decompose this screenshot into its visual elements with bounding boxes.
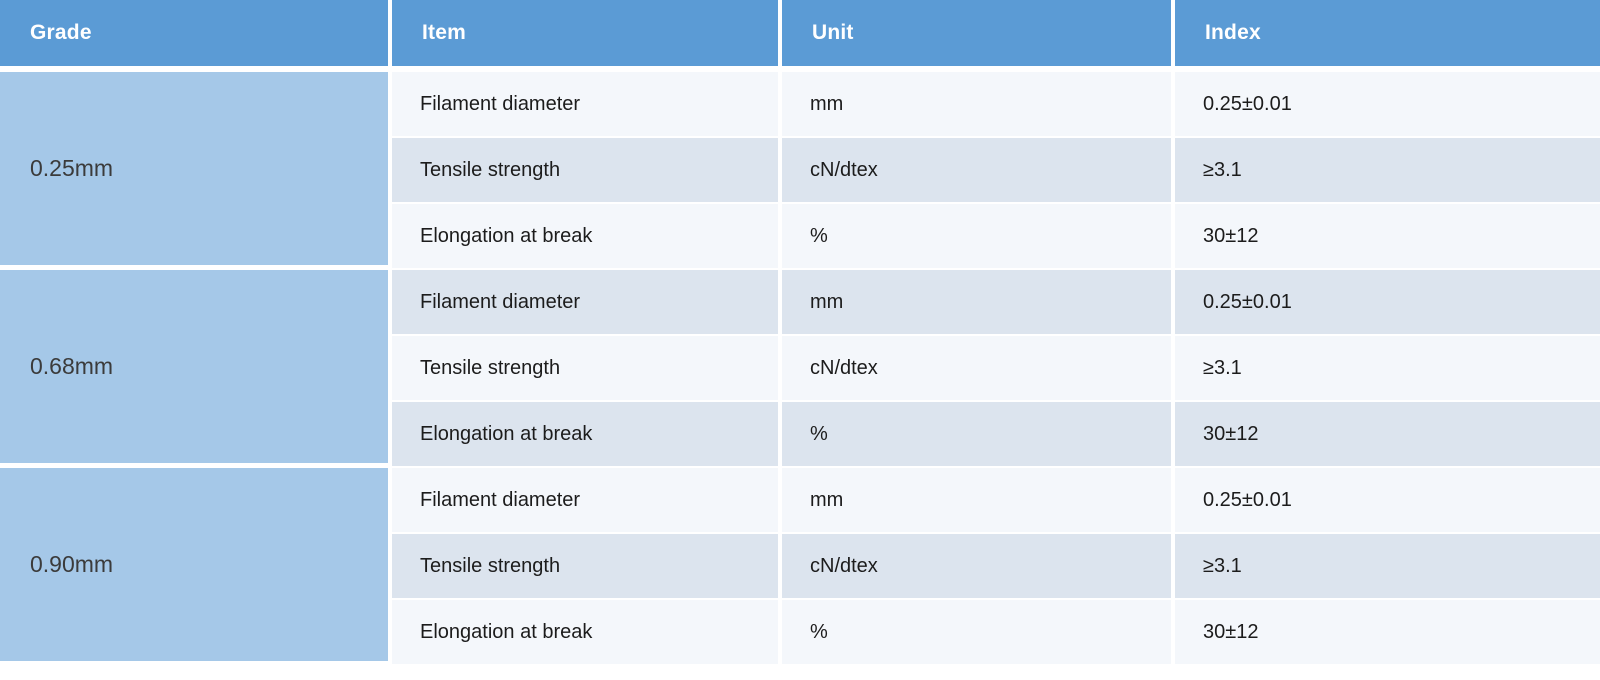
index-cell: 30±12	[1175, 204, 1600, 270]
unit-cell: cN/dtex	[782, 336, 1175, 402]
index-cell: 30±12	[1175, 402, 1600, 468]
specification-table: Grade Item Unit Index 0.25mm Filament di…	[0, 0, 1600, 666]
index-cell: ≥3.1	[1175, 138, 1600, 204]
column-header-unit: Unit	[782, 0, 1175, 72]
unit-cell: mm	[782, 270, 1175, 336]
unit-cell: cN/dtex	[782, 138, 1175, 204]
unit-cell: %	[782, 204, 1175, 270]
unit-cell: cN/dtex	[782, 534, 1175, 600]
column-header-item: Item	[392, 0, 782, 72]
header-row: Grade Item Unit Index	[0, 0, 1600, 72]
item-cell: Elongation at break	[392, 402, 782, 468]
column-header-grade: Grade	[0, 0, 392, 72]
item-cell: Tensile strength	[392, 336, 782, 402]
item-cell: Elongation at break	[392, 204, 782, 270]
item-cell: Tensile strength	[392, 534, 782, 600]
table-body: 0.25mm Filament diameter mm 0.25±0.01 Te…	[0, 72, 1600, 666]
index-cell: 30±12	[1175, 600, 1600, 666]
unit-cell: mm	[782, 468, 1175, 534]
unit-cell: %	[782, 402, 1175, 468]
unit-cell: %	[782, 600, 1175, 666]
table-header: Grade Item Unit Index	[0, 0, 1600, 72]
item-cell: Elongation at break	[392, 600, 782, 666]
index-cell: 0.25±0.01	[1175, 468, 1600, 534]
item-cell: Filament diameter	[392, 270, 782, 336]
table-row: 0.90mm Filament diameter mm 0.25±0.01	[0, 468, 1600, 534]
item-cell: Filament diameter	[392, 468, 782, 534]
grade-cell: 0.68mm	[0, 270, 392, 468]
grade-cell: 0.25mm	[0, 72, 392, 270]
table-row: 0.25mm Filament diameter mm 0.25±0.01	[0, 72, 1600, 138]
index-cell: ≥3.1	[1175, 534, 1600, 600]
column-header-index: Index	[1175, 0, 1600, 72]
table-row: 0.68mm Filament diameter mm 0.25±0.01	[0, 270, 1600, 336]
index-cell: 0.25±0.01	[1175, 270, 1600, 336]
index-cell: 0.25±0.01	[1175, 72, 1600, 138]
item-cell: Tensile strength	[392, 138, 782, 204]
item-cell: Filament diameter	[392, 72, 782, 138]
grade-cell: 0.90mm	[0, 468, 392, 666]
unit-cell: mm	[782, 72, 1175, 138]
index-cell: ≥3.1	[1175, 336, 1600, 402]
